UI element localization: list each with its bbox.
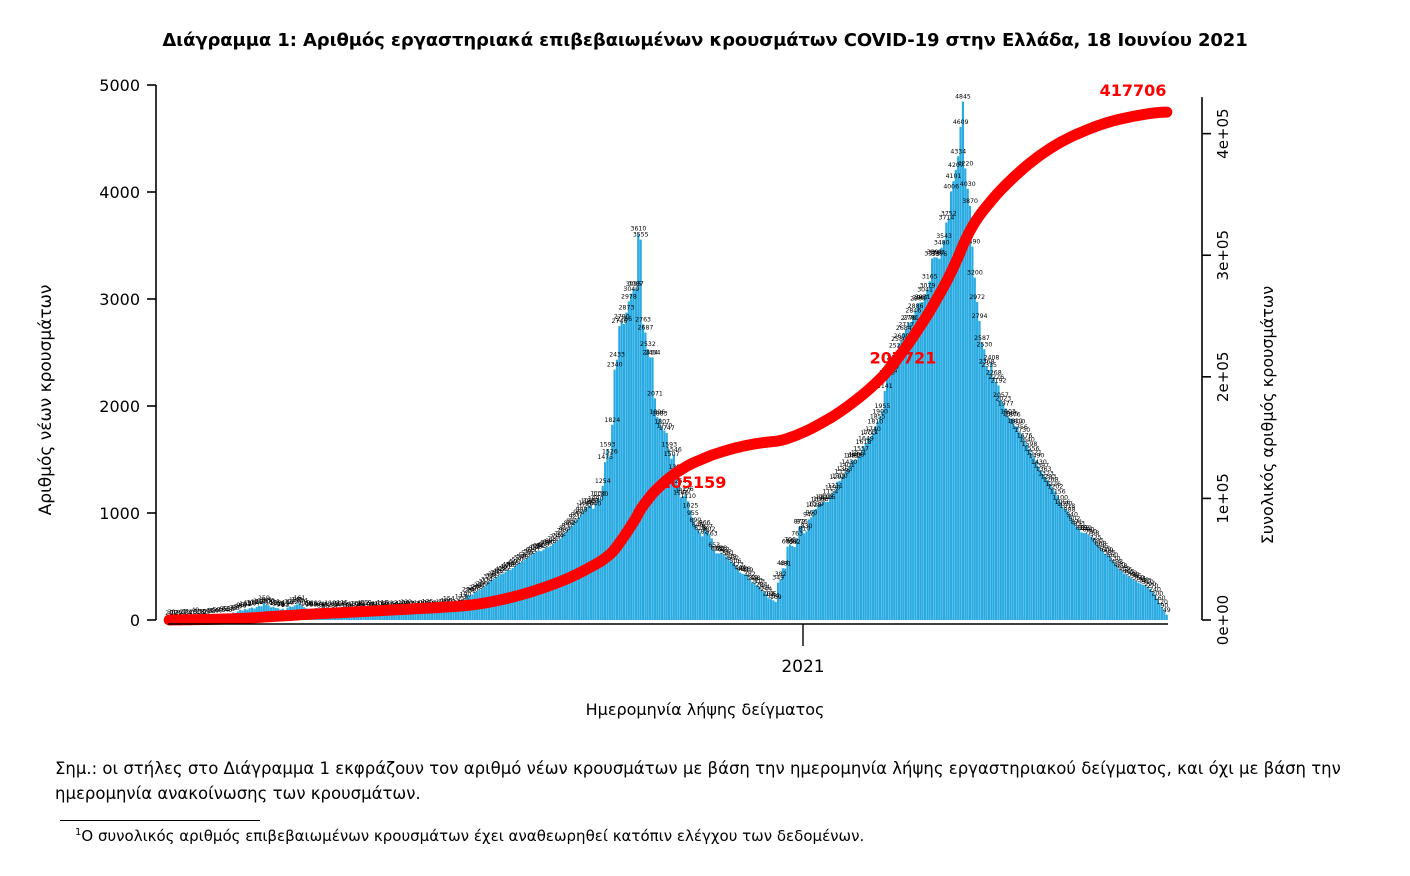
bar — [872, 434, 874, 620]
bar — [1054, 491, 1056, 620]
y-axis-left-tick-label: 0 — [130, 611, 140, 630]
bar — [1125, 575, 1127, 620]
bar — [967, 189, 969, 620]
bar — [1087, 534, 1089, 620]
bar — [632, 289, 634, 620]
bar-value-label: 3870 — [962, 198, 978, 205]
bar — [1045, 478, 1047, 620]
bar — [628, 301, 630, 620]
bar — [941, 248, 943, 620]
bar — [1057, 496, 1059, 620]
cumulative-total-label: 105159 — [660, 473, 727, 492]
bar — [1023, 441, 1025, 620]
y-axis-left-tick-label: 2000 — [99, 397, 140, 416]
bar — [739, 572, 741, 620]
bar — [1019, 432, 1021, 620]
plot-area: 2030221825192731242026493328353027413844… — [0, 0, 1410, 876]
bar — [888, 376, 890, 620]
bar — [616, 360, 618, 620]
bar-value-label: 3543 — [936, 233, 952, 240]
cumulative-total-label: 207721 — [870, 348, 937, 367]
bar-value-label: 2687 — [638, 325, 654, 332]
bar-value-label: 4220 — [958, 161, 974, 168]
bar — [1132, 580, 1134, 620]
bar-value-label: 2433 — [609, 352, 625, 359]
bar — [1142, 585, 1144, 620]
bar — [1095, 542, 1097, 620]
bar — [1106, 555, 1108, 620]
bar — [1047, 482, 1049, 620]
bar — [1050, 484, 1052, 620]
bar — [1076, 527, 1078, 620]
bar — [976, 302, 978, 620]
bar — [625, 313, 627, 620]
bar — [791, 546, 793, 620]
bar — [768, 598, 770, 620]
bar — [974, 278, 976, 620]
bar — [1104, 554, 1106, 620]
bar — [997, 385, 999, 620]
bar — [834, 490, 836, 620]
x-axis-tick-label: 2021 — [781, 657, 824, 677]
bar — [971, 247, 973, 620]
bar — [884, 391, 886, 620]
bar — [734, 566, 736, 620]
bar — [803, 533, 805, 620]
y-axis-left-tick-label: 1000 — [99, 504, 140, 523]
y-axis-left-tick-label: 5000 — [99, 76, 140, 95]
bar — [1061, 507, 1063, 620]
bar — [727, 558, 729, 620]
bar-value-label: 1883 — [652, 411, 668, 418]
bar — [1064, 509, 1066, 620]
bar — [924, 295, 926, 620]
bar-value-label: 2766 — [616, 316, 632, 323]
bar — [990, 362, 992, 620]
bar — [635, 289, 637, 620]
bar — [777, 583, 779, 620]
bar — [808, 519, 810, 620]
bar — [1097, 546, 1099, 620]
bar — [623, 324, 625, 620]
bar — [1144, 585, 1146, 620]
bar-value-label: 4334 — [950, 148, 966, 155]
bar — [824, 502, 826, 620]
bar — [988, 370, 990, 620]
bar — [813, 510, 815, 620]
bar — [839, 481, 841, 620]
y-axis-left-title: Αριθμός νέων κρουσμάτων — [36, 250, 56, 550]
bar — [718, 553, 720, 620]
bar-value-label: 3097 — [628, 281, 644, 288]
bar-value-label: 2192 — [991, 378, 1007, 385]
bar — [836, 482, 838, 620]
bar-value-label: 1526 — [602, 449, 618, 456]
y-axis-left-tick-label: 4000 — [99, 183, 140, 202]
bar — [654, 398, 656, 620]
bar-value-label: 1130 — [593, 491, 609, 498]
y-axis-left-tick-label: 3000 — [99, 290, 140, 309]
bar — [1040, 471, 1042, 620]
bar-value-label: 2886 — [908, 303, 924, 310]
bar-value-label: 682 — [789, 539, 801, 546]
bar — [694, 525, 696, 620]
bar — [801, 526, 803, 620]
bar-value-label: 4030 — [960, 181, 976, 188]
bar — [1114, 563, 1116, 620]
bar-value-label: 3555 — [633, 232, 649, 239]
cumulative-total-label: 417706 — [1100, 81, 1167, 100]
bar — [817, 505, 819, 620]
bar — [680, 497, 682, 620]
bar — [986, 367, 988, 620]
bar — [644, 332, 646, 620]
bar-value-label: 3079 — [920, 283, 936, 290]
bar — [715, 553, 717, 620]
bar — [1068, 514, 1070, 620]
bar — [879, 417, 881, 620]
bar-value-label: 3752 — [941, 211, 957, 218]
bar — [891, 372, 893, 620]
bar — [936, 258, 938, 620]
bar — [957, 156, 959, 620]
bar — [874, 426, 876, 620]
bar — [1031, 454, 1033, 620]
bar — [820, 504, 822, 620]
bar-value-label: 2717 — [898, 321, 914, 328]
bar — [993, 377, 995, 620]
bar — [642, 324, 644, 620]
bar — [659, 419, 661, 620]
bar — [1026, 445, 1028, 620]
bar — [1090, 537, 1092, 620]
bar-value-label: 955 — [687, 510, 699, 517]
bar — [770, 599, 772, 620]
bar — [1128, 577, 1130, 620]
bar — [1166, 615, 1168, 620]
x-axis-title: Ημερομηνία λήψης δείγματος — [0, 700, 1410, 719]
bar — [815, 509, 817, 620]
bar-value-label: 2408 — [984, 354, 1000, 361]
bar-value-label: 2794 — [972, 313, 988, 320]
bar — [829, 497, 831, 620]
bar-value-label: 763 — [706, 530, 718, 537]
bar — [1085, 533, 1087, 620]
bar — [1028, 449, 1030, 620]
bar — [855, 460, 857, 620]
bar-value-label: 1593 — [600, 442, 616, 449]
bar — [732, 563, 734, 620]
bar — [701, 536, 703, 620]
bar — [1140, 584, 1142, 620]
y-axis-right-tick-label: 3e+05 — [1214, 230, 1232, 280]
bar — [900, 341, 902, 620]
bar — [741, 574, 743, 620]
bar — [905, 329, 907, 620]
bar — [666, 433, 668, 620]
chart-note: Σημ.: οι στήλες στο Διάγραμμα 1 εκφράζου… — [55, 757, 1355, 807]
bar — [1033, 457, 1035, 620]
footnote-text: Ο συνολικός αριθμός επιβεβαιωμένων κρουσ… — [81, 827, 864, 845]
bar-value-label: 2530 — [977, 341, 993, 348]
y-axis-right-tick-label: 2e+05 — [1214, 352, 1232, 402]
bar — [955, 170, 957, 620]
y-axis-right-tick-label: 0e+00 — [1214, 595, 1232, 645]
bar — [850, 460, 852, 620]
bar — [1016, 426, 1018, 620]
bar — [723, 555, 725, 620]
bar-value-label: 4006 — [943, 183, 959, 190]
bar-value-label: 2873 — [619, 305, 635, 312]
bar-value-label: 3480 — [934, 240, 950, 247]
bar — [1002, 404, 1004, 620]
bar — [720, 553, 722, 620]
bar — [1102, 551, 1104, 620]
bar — [1059, 502, 1061, 620]
bar — [1137, 583, 1139, 620]
bar — [1111, 560, 1113, 620]
bar — [663, 431, 665, 620]
chart-footnote: 1Ο συνολικός αριθμός επιβεβαιωμένων κρου… — [75, 826, 1365, 847]
bar — [881, 411, 883, 620]
bar — [848, 467, 850, 620]
bar — [618, 326, 620, 620]
bar — [737, 569, 739, 620]
bar — [1116, 567, 1118, 620]
bar-value-label: 2532 — [640, 341, 656, 348]
bar — [983, 349, 985, 620]
bar — [1130, 578, 1132, 620]
bar-value-label: 960 — [805, 509, 817, 516]
bar — [805, 531, 807, 620]
bar-value-label: 1747 — [659, 425, 675, 432]
bar-value-label: 1557 — [853, 445, 869, 452]
bar-value-label: 1546 — [666, 447, 682, 454]
bar — [1004, 408, 1006, 620]
bar — [1038, 467, 1040, 620]
y-axis-right: 0e+001e+052e+053e+054e+05 — [1202, 97, 1232, 645]
bar — [1035, 461, 1037, 620]
y-axis-right-title: Συνολικός αριθμός κρουσμάτων — [1258, 250, 1277, 580]
bar-value-label: 2978 — [621, 293, 637, 300]
bar-value-label: 1110 — [680, 493, 696, 500]
bar — [1066, 511, 1068, 620]
bar-value-label: 1430 — [841, 459, 857, 466]
bar — [1123, 573, 1125, 620]
bar — [699, 532, 701, 620]
bar-value-label: 2335 — [981, 362, 997, 369]
bar — [696, 529, 698, 620]
bar — [1021, 435, 1023, 620]
bar-value-label: 481 — [779, 561, 791, 568]
bar — [1135, 581, 1137, 620]
bar-value-label: 2340 — [607, 362, 623, 369]
bar — [751, 583, 753, 620]
bar — [1118, 570, 1120, 620]
y-axis-right-tick-label: 1e+05 — [1214, 473, 1232, 523]
bar — [895, 350, 897, 620]
bar — [841, 477, 843, 620]
bar — [640, 240, 642, 620]
bar-value-label: 1211 — [827, 482, 843, 489]
bar — [1052, 489, 1054, 620]
bar — [962, 102, 964, 620]
bar — [1109, 557, 1111, 620]
bar — [1012, 419, 1014, 620]
bar-value-label: 1977 — [998, 401, 1014, 408]
bar-value-label: 1254 — [595, 478, 611, 485]
bar-value-label: 830 — [801, 523, 813, 530]
bar — [614, 370, 616, 620]
bar — [1000, 400, 1002, 620]
bar — [725, 557, 727, 620]
bar — [730, 561, 732, 620]
bar — [969, 206, 971, 620]
bar — [843, 474, 845, 620]
bar-value-label: 2763 — [635, 316, 651, 323]
bar — [1092, 538, 1094, 620]
bar — [860, 453, 862, 620]
bar-value-label: 3376 — [931, 251, 947, 258]
bar-value-label: 2972 — [969, 294, 985, 301]
bar — [630, 294, 632, 620]
bar — [682, 496, 684, 620]
bar — [1073, 523, 1075, 620]
bar — [862, 447, 864, 620]
y-axis-right-tick-label: 4e+05 — [1214, 108, 1232, 158]
bar — [704, 527, 706, 620]
bar-value-label: 2781 — [903, 314, 919, 321]
bar — [1099, 549, 1101, 620]
bar-value-label: 1824 — [604, 417, 620, 424]
bar — [1014, 426, 1016, 620]
bar-value-label: 2071 — [647, 390, 663, 397]
bar — [867, 438, 869, 620]
bar — [786, 547, 788, 620]
bar — [981, 343, 983, 620]
bar — [898, 344, 900, 620]
bar-value-label: 3165 — [922, 273, 938, 280]
bar — [995, 382, 997, 620]
bar — [827, 502, 829, 620]
chart-figure: Διάγραμμα 1: Αριθμός εργαστηριακά επιβεβ… — [0, 0, 1410, 876]
covid-cases-chart: 2030221825192731242026493328353027413844… — [0, 0, 1410, 876]
bar — [952, 181, 954, 620]
bar — [606, 450, 608, 620]
bar — [656, 417, 658, 620]
bar-value-label: 4609 — [953, 119, 969, 126]
bar — [1042, 474, 1044, 620]
bar-value-label: 382 — [775, 571, 787, 578]
bar — [713, 550, 715, 620]
bar-value-label: 1740 — [865, 426, 881, 433]
bar — [926, 291, 928, 620]
bar — [772, 600, 774, 620]
bar — [775, 602, 777, 620]
x-axis: 2021 — [168, 624, 1168, 677]
bar — [1071, 519, 1073, 620]
bar — [929, 281, 931, 620]
bar — [1080, 532, 1082, 620]
bar — [903, 333, 905, 620]
bar-value-label: 1025 — [683, 502, 699, 509]
bar — [846, 470, 848, 620]
bar — [692, 518, 694, 620]
bar — [810, 517, 812, 620]
y-axis-left: 010002000300040005000 — [99, 76, 156, 630]
bar — [950, 191, 952, 620]
bar — [1009, 418, 1011, 620]
bar-value-label: 2454 — [645, 349, 661, 356]
bar — [832, 493, 834, 620]
bar-value-label: 49 — [1163, 607, 1171, 614]
bar — [1083, 533, 1085, 620]
bar-value-label: 4101 — [946, 173, 962, 180]
bar — [1007, 416, 1009, 620]
bar — [869, 437, 871, 620]
bar — [789, 544, 791, 620]
bar — [604, 462, 606, 620]
bar — [1121, 571, 1123, 620]
bar — [938, 259, 940, 620]
bar — [746, 575, 748, 620]
bar — [677, 486, 679, 620]
bar — [893, 362, 895, 620]
bar-value-label: 2971 — [915, 294, 931, 301]
bar — [796, 538, 798, 620]
bar-value-label: 4845 — [955, 94, 971, 101]
bar — [858, 457, 860, 620]
bar-value-label: 169 — [770, 594, 782, 601]
footnote-divider — [60, 820, 260, 821]
bar-value-label: 1955 — [875, 403, 891, 410]
bar — [853, 460, 855, 620]
bar — [1078, 529, 1080, 620]
bar — [877, 422, 879, 620]
bar — [865, 444, 867, 620]
bar — [794, 547, 796, 620]
bar-value-label: 3200 — [967, 270, 983, 277]
bar — [822, 502, 824, 620]
bar — [749, 579, 751, 620]
